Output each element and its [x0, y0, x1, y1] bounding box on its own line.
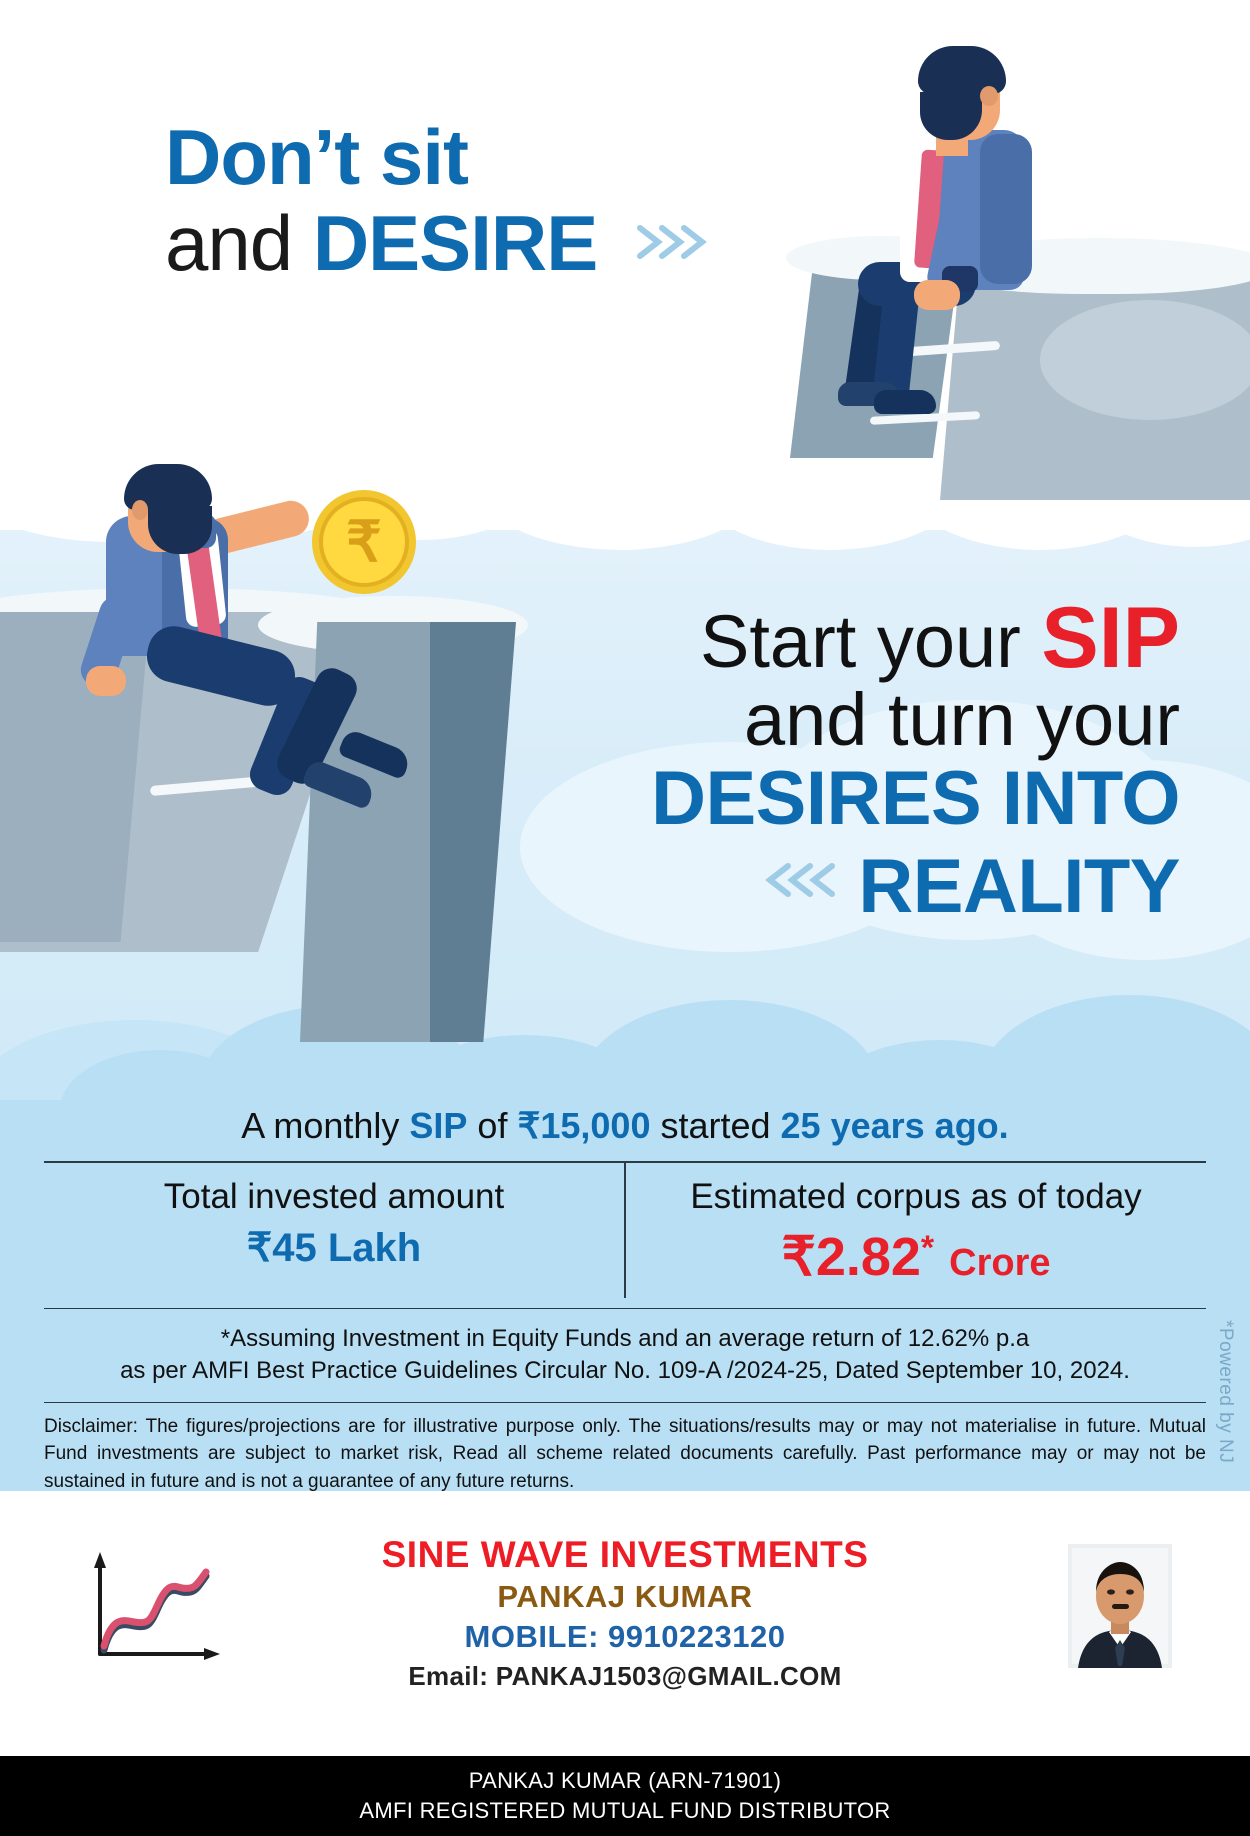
corpus-caption: Estimated corpus as of today — [626, 1177, 1206, 1217]
headline-top-line2-plain: and — [165, 199, 313, 287]
footer-bar: PANKAJ KUMAR (ARN-71901) AMFI REGISTERED… — [0, 1756, 1250, 1836]
advisor-name: PANKAJ KUMAR — [0, 1579, 1250, 1615]
corpus-number: 2.82 — [816, 1227, 921, 1287]
assumption-line1: *Assuming Investment in Equity Funds and… — [44, 1323, 1206, 1355]
stats-columns: Total invested amount ₹45 Lakh Estimated… — [44, 1163, 1206, 1298]
summary-years: 25 years ago. — [781, 1105, 1009, 1146]
contact-band: SINE WAVE INVESTMENTS PANKAJ KUMAR MOBIL… — [0, 1506, 1250, 1706]
summary-of: of — [467, 1105, 517, 1146]
stats-panel: A monthly SIP of ₹15,000 started 25 year… — [0, 1105, 1250, 1495]
summary-prefix: A monthly — [241, 1105, 409, 1146]
headline-main-row1: Start your SIP — [651, 595, 1180, 681]
assumption-line2: as per AMFI Best Practice Guidelines Cir… — [44, 1355, 1206, 1387]
mobile-number[interactable]: MOBILE: 9910223120 — [0, 1619, 1250, 1655]
summary-started: started — [650, 1105, 780, 1146]
brand-details: SINE WAVE INVESTMENTS PANKAJ KUMAR MOBIL… — [0, 1534, 1250, 1692]
headline-main-row2: and turn your — [651, 683, 1180, 757]
assumption-note: *Assuming Investment in Equity Funds and… — [44, 1323, 1206, 1388]
headline-main-row3: DESIRES INTO — [651, 761, 1180, 837]
headline-top-line2: and DESIRE — [165, 198, 708, 284]
company-name: SINE WAVE INVESTMENTS — [0, 1534, 1250, 1576]
rupee-gold-coin-icon: ₹ — [312, 490, 416, 594]
stats-column-corpus: Estimated corpus as of today ₹2.82* Cror… — [626, 1163, 1206, 1298]
headline-top: Don’t sit and DESIRE — [165, 118, 708, 283]
corpus-unit: Crore — [949, 1242, 1050, 1284]
divider-middle — [44, 1308, 1206, 1309]
disclaimer-text: Disclaimer: The figures/projections are … — [44, 1403, 1206, 1496]
headline-top-line1: Don’t sit — [165, 118, 708, 198]
invested-value: ₹45 Lakh — [44, 1225, 624, 1271]
headline-main-row1-plain: Start your — [700, 600, 1041, 683]
corpus-asterisk: * — [921, 1229, 934, 1267]
summary-sip: SIP — [409, 1105, 467, 1146]
advisor-portrait-photo — [1068, 1544, 1172, 1668]
summary-amount: ₹15,000 — [517, 1105, 650, 1146]
cliff-top-right-shadow — [1040, 300, 1250, 420]
invested-caption: Total invested amount — [44, 1177, 624, 1217]
footer-line2: AMFI REGISTERED MUTUAL FUND DISTRIBUTOR — [359, 1796, 890, 1826]
stats-column-invested: Total invested amount ₹45 Lakh — [44, 1163, 626, 1298]
headline-main-row4: REALITY — [858, 844, 1180, 929]
chevrons-right-icon — [634, 198, 708, 278]
footer-line1: PANKAJ KUMAR (ARN-71901) — [469, 1766, 781, 1796]
sip-summary-line: A monthly SIP of ₹15,000 started 25 year… — [0, 1105, 1250, 1147]
sip-marketing-poster: ₹ Don’t sit and DESIRE Start your SIP an… — [0, 0, 1250, 1836]
email-address[interactable]: Email: PANKAJ1503@GMAIL.COM — [0, 1661, 1250, 1692]
headline-main-sip: SIP — [1041, 590, 1180, 686]
corpus-currency: ₹ — [781, 1227, 815, 1287]
headline-top-line2-emphasis: DESIRE — [313, 199, 597, 287]
headline-main: Start your SIP and turn your DESIRES INT… — [651, 595, 1180, 925]
chevrons-left-icon — [764, 839, 838, 915]
seated-businessman-top — [830, 30, 1050, 430]
headline-main-row4-wrap: REALITY — [651, 839, 1180, 925]
corpus-value: ₹2.82* Crore — [626, 1225, 1206, 1288]
